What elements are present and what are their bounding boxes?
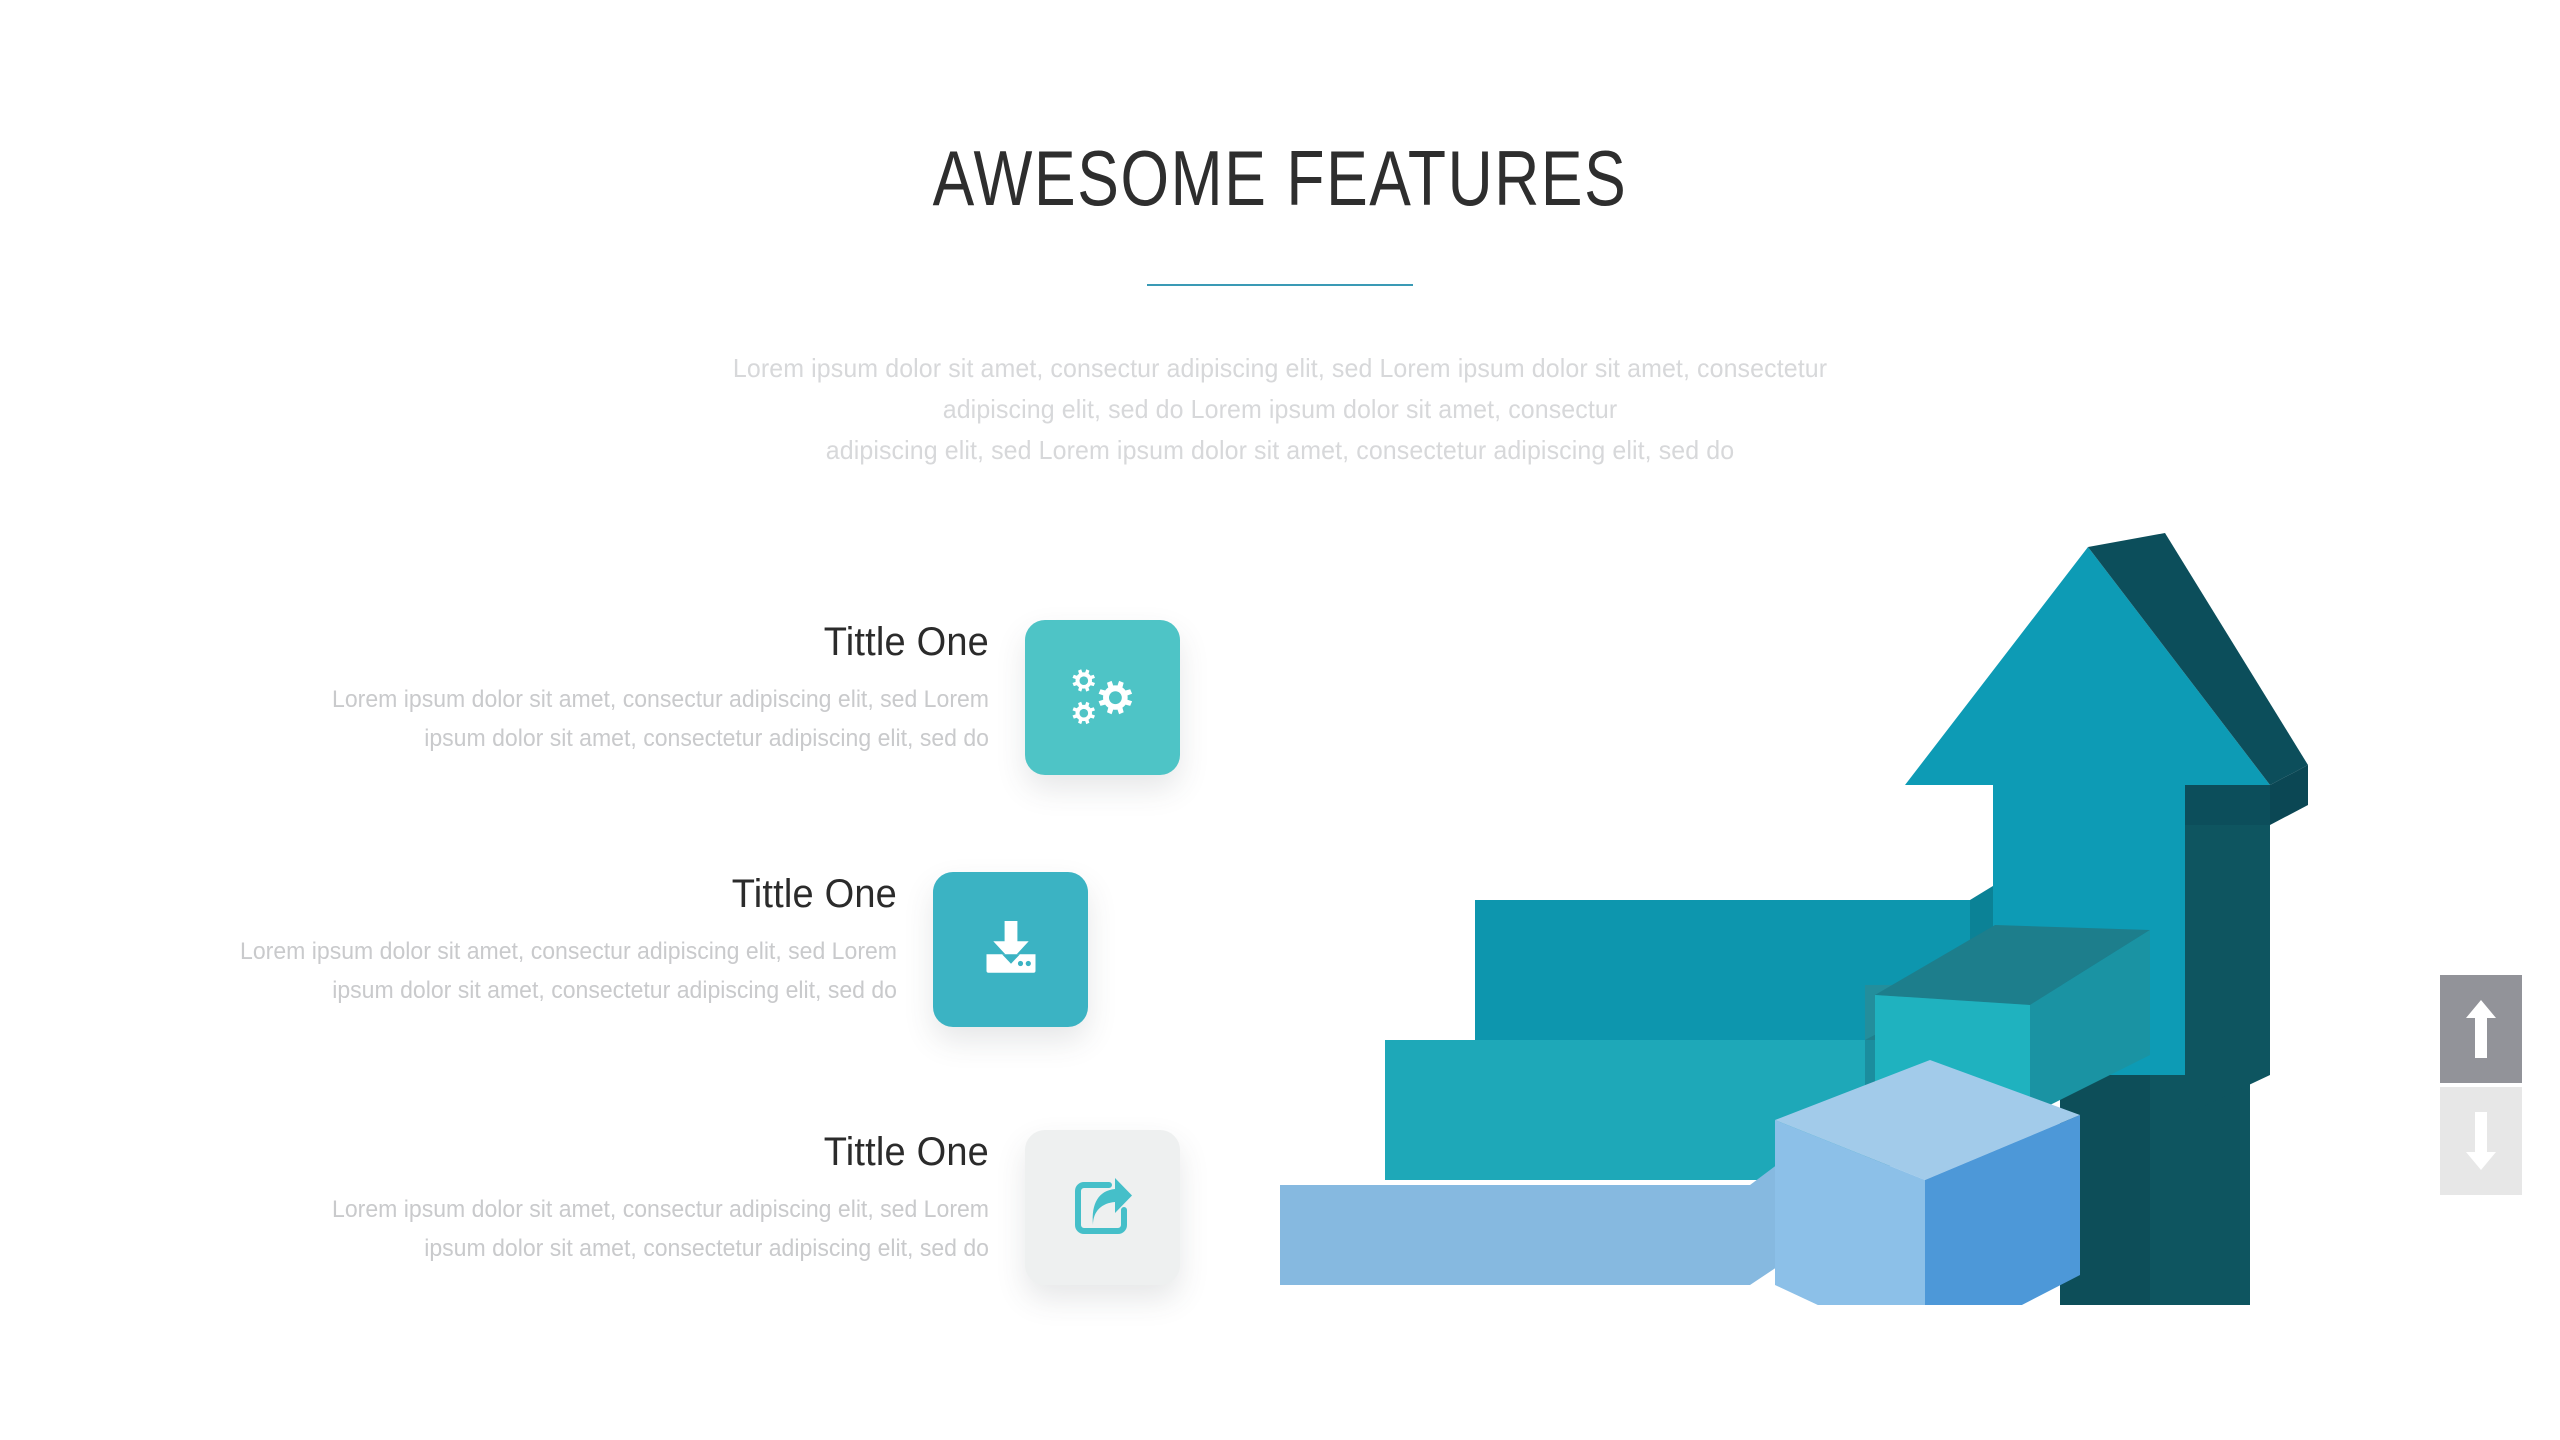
feature-desc-1: Lorem ipsum dolor sit amet, consectur ad… bbox=[40, 680, 989, 758]
feature-desc-3-line-1: Lorem ipsum dolor sit amet, consectur ad… bbox=[40, 1190, 989, 1229]
feature-title-1: Tittle One bbox=[49, 620, 989, 664]
isometric-growth-arrow-illustration bbox=[1270, 515, 2340, 1305]
feature-desc-3: Lorem ipsum dolor sit amet, consectur ad… bbox=[40, 1190, 989, 1268]
feature-icon-button-3[interactable] bbox=[1025, 1130, 1180, 1285]
arrow-down-icon bbox=[2465, 1112, 2497, 1170]
feature-item-1[interactable]: Tittle One Lorem ipsum dolor sit amet, c… bbox=[0, 620, 1180, 775]
arrow-up-icon bbox=[2465, 1000, 2497, 1058]
feature-item-3[interactable]: Tittle One Lorem ipsum dolor sit amet, c… bbox=[0, 1130, 1180, 1285]
feature-text-1: Tittle One Lorem ipsum dolor sit amet, c… bbox=[0, 620, 1025, 758]
feature-desc-2: Lorem ipsum dolor sit amet, consectur ad… bbox=[36, 932, 897, 1010]
scroll-up-button[interactable] bbox=[2440, 975, 2522, 1083]
share-icon bbox=[1065, 1170, 1141, 1246]
feature-desc-2-line-2: ipsum dolor sit amet, consectetur adipis… bbox=[36, 971, 897, 1010]
feature-title-3: Tittle One bbox=[49, 1130, 989, 1174]
scroll-controls bbox=[2440, 975, 2522, 1195]
download-icon bbox=[974, 913, 1048, 987]
scroll-down-button[interactable] bbox=[2440, 1087, 2522, 1195]
gears-icon bbox=[1063, 658, 1143, 738]
slide-canvas: AWESOME FEATURES Lorem ipsum dolor sit a… bbox=[0, 0, 2560, 1440]
feature-desc-3-line-2: ipsum dolor sit amet, consectetur adipis… bbox=[40, 1229, 989, 1268]
feature-desc-2-line-1: Lorem ipsum dolor sit amet, consectur ad… bbox=[36, 932, 897, 971]
feature-item-2[interactable]: Tittle One Lorem ipsum dolor sit amet, c… bbox=[0, 872, 1088, 1027]
feature-list: Tittle One Lorem ipsum dolor sit amet, c… bbox=[0, 0, 1250, 1440]
feature-desc-1-line-2: ipsum dolor sit amet, consectetur adipis… bbox=[40, 719, 989, 758]
feature-title-2: Tittle One bbox=[45, 872, 897, 916]
feature-text-3: Tittle One Lorem ipsum dolor sit amet, c… bbox=[0, 1130, 1025, 1268]
feature-desc-1-line-1: Lorem ipsum dolor sit amet, consectur ad… bbox=[40, 680, 989, 719]
feature-icon-button-1[interactable] bbox=[1025, 620, 1180, 775]
feature-text-2: Tittle One Lorem ipsum dolor sit amet, c… bbox=[0, 872, 933, 1010]
feature-icon-button-2[interactable] bbox=[933, 872, 1088, 1027]
